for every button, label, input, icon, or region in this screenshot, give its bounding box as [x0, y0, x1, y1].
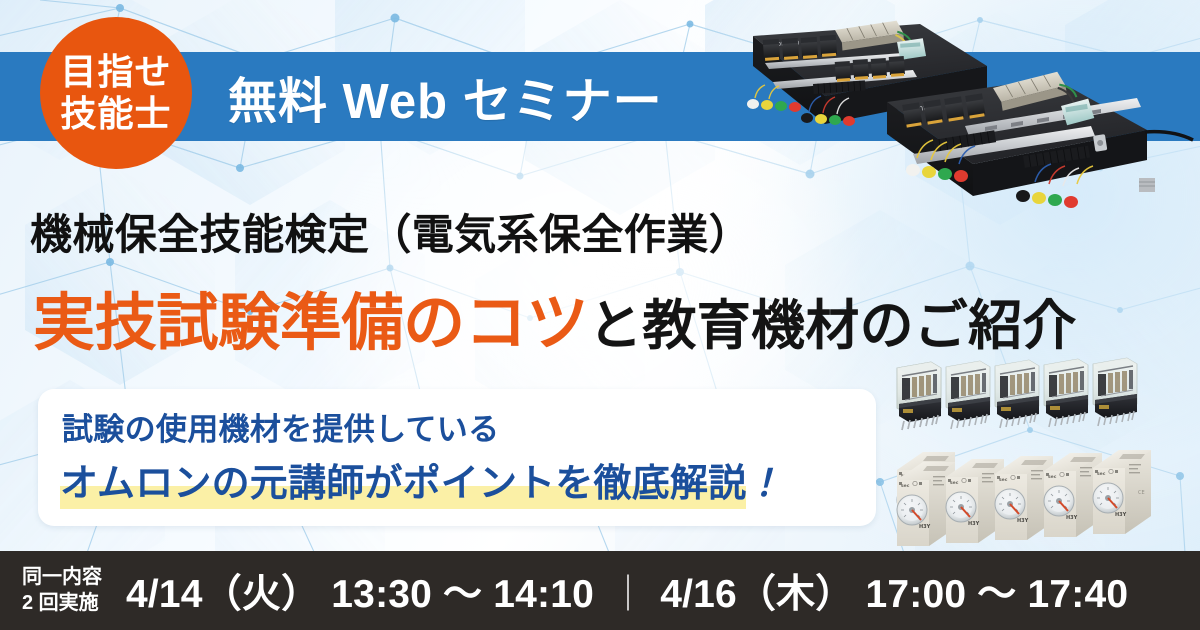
schedule-bar: 同一内容 2 回実施 4/14（火） 13:30 〜 14:10 ｜ 4/16（…	[0, 551, 1200, 630]
exclamation-mark: ！	[754, 453, 791, 507]
headline-accent: 実技試験準備のコツ	[33, 289, 588, 358]
session-1: 4/14（火） 13:30 〜 14:10	[126, 563, 594, 619]
goal-badge: 目指せ 技能士	[40, 17, 192, 169]
headline-rest: と教育機材のご紹介	[588, 296, 1076, 356]
card-line-2: オムロンの元講師がポイントを徹底解説！	[60, 452, 792, 509]
svg-text:CE: CE	[1138, 490, 1145, 496]
headline-main: 実技試験準備のコツと教育機材のご紹介	[33, 272, 1077, 362]
seminar-banner: omron	[0, 0, 1200, 630]
session-separator: ｜	[610, 565, 646, 617]
card-line-2-highlight: オムロンの元講師がポイントを徹底解説	[60, 452, 746, 509]
badge-line-1: 目指せ	[60, 51, 171, 93]
card-line-1: 試験の使用機材を提供している	[62, 404, 499, 449]
timer-relay-row-photo: sec H3Y	[893, 444, 1193, 550]
ribbon-title: 無料 Web セミナー	[228, 60, 663, 134]
session-2: 4/16（木） 17:00 〜 17:40	[660, 563, 1128, 619]
schedule-note-line-1: 同一内容	[22, 565, 102, 591]
badge-line-2: 技能士	[60, 93, 171, 135]
headline-subtitle: 機械保全技能検定（電気系保全作業）	[30, 201, 751, 262]
relay-row-photo	[893, 352, 1193, 444]
schedule-note: 同一内容 2 回実施	[22, 565, 102, 616]
schedule-note-line-2: 2 回実施	[22, 591, 102, 617]
training-panel-photo: omron	[735, 6, 1200, 246]
schedule-sessions: 4/14（火） 13:30 〜 14:10 ｜ 4/16（木） 17:00 〜 …	[126, 563, 1128, 619]
